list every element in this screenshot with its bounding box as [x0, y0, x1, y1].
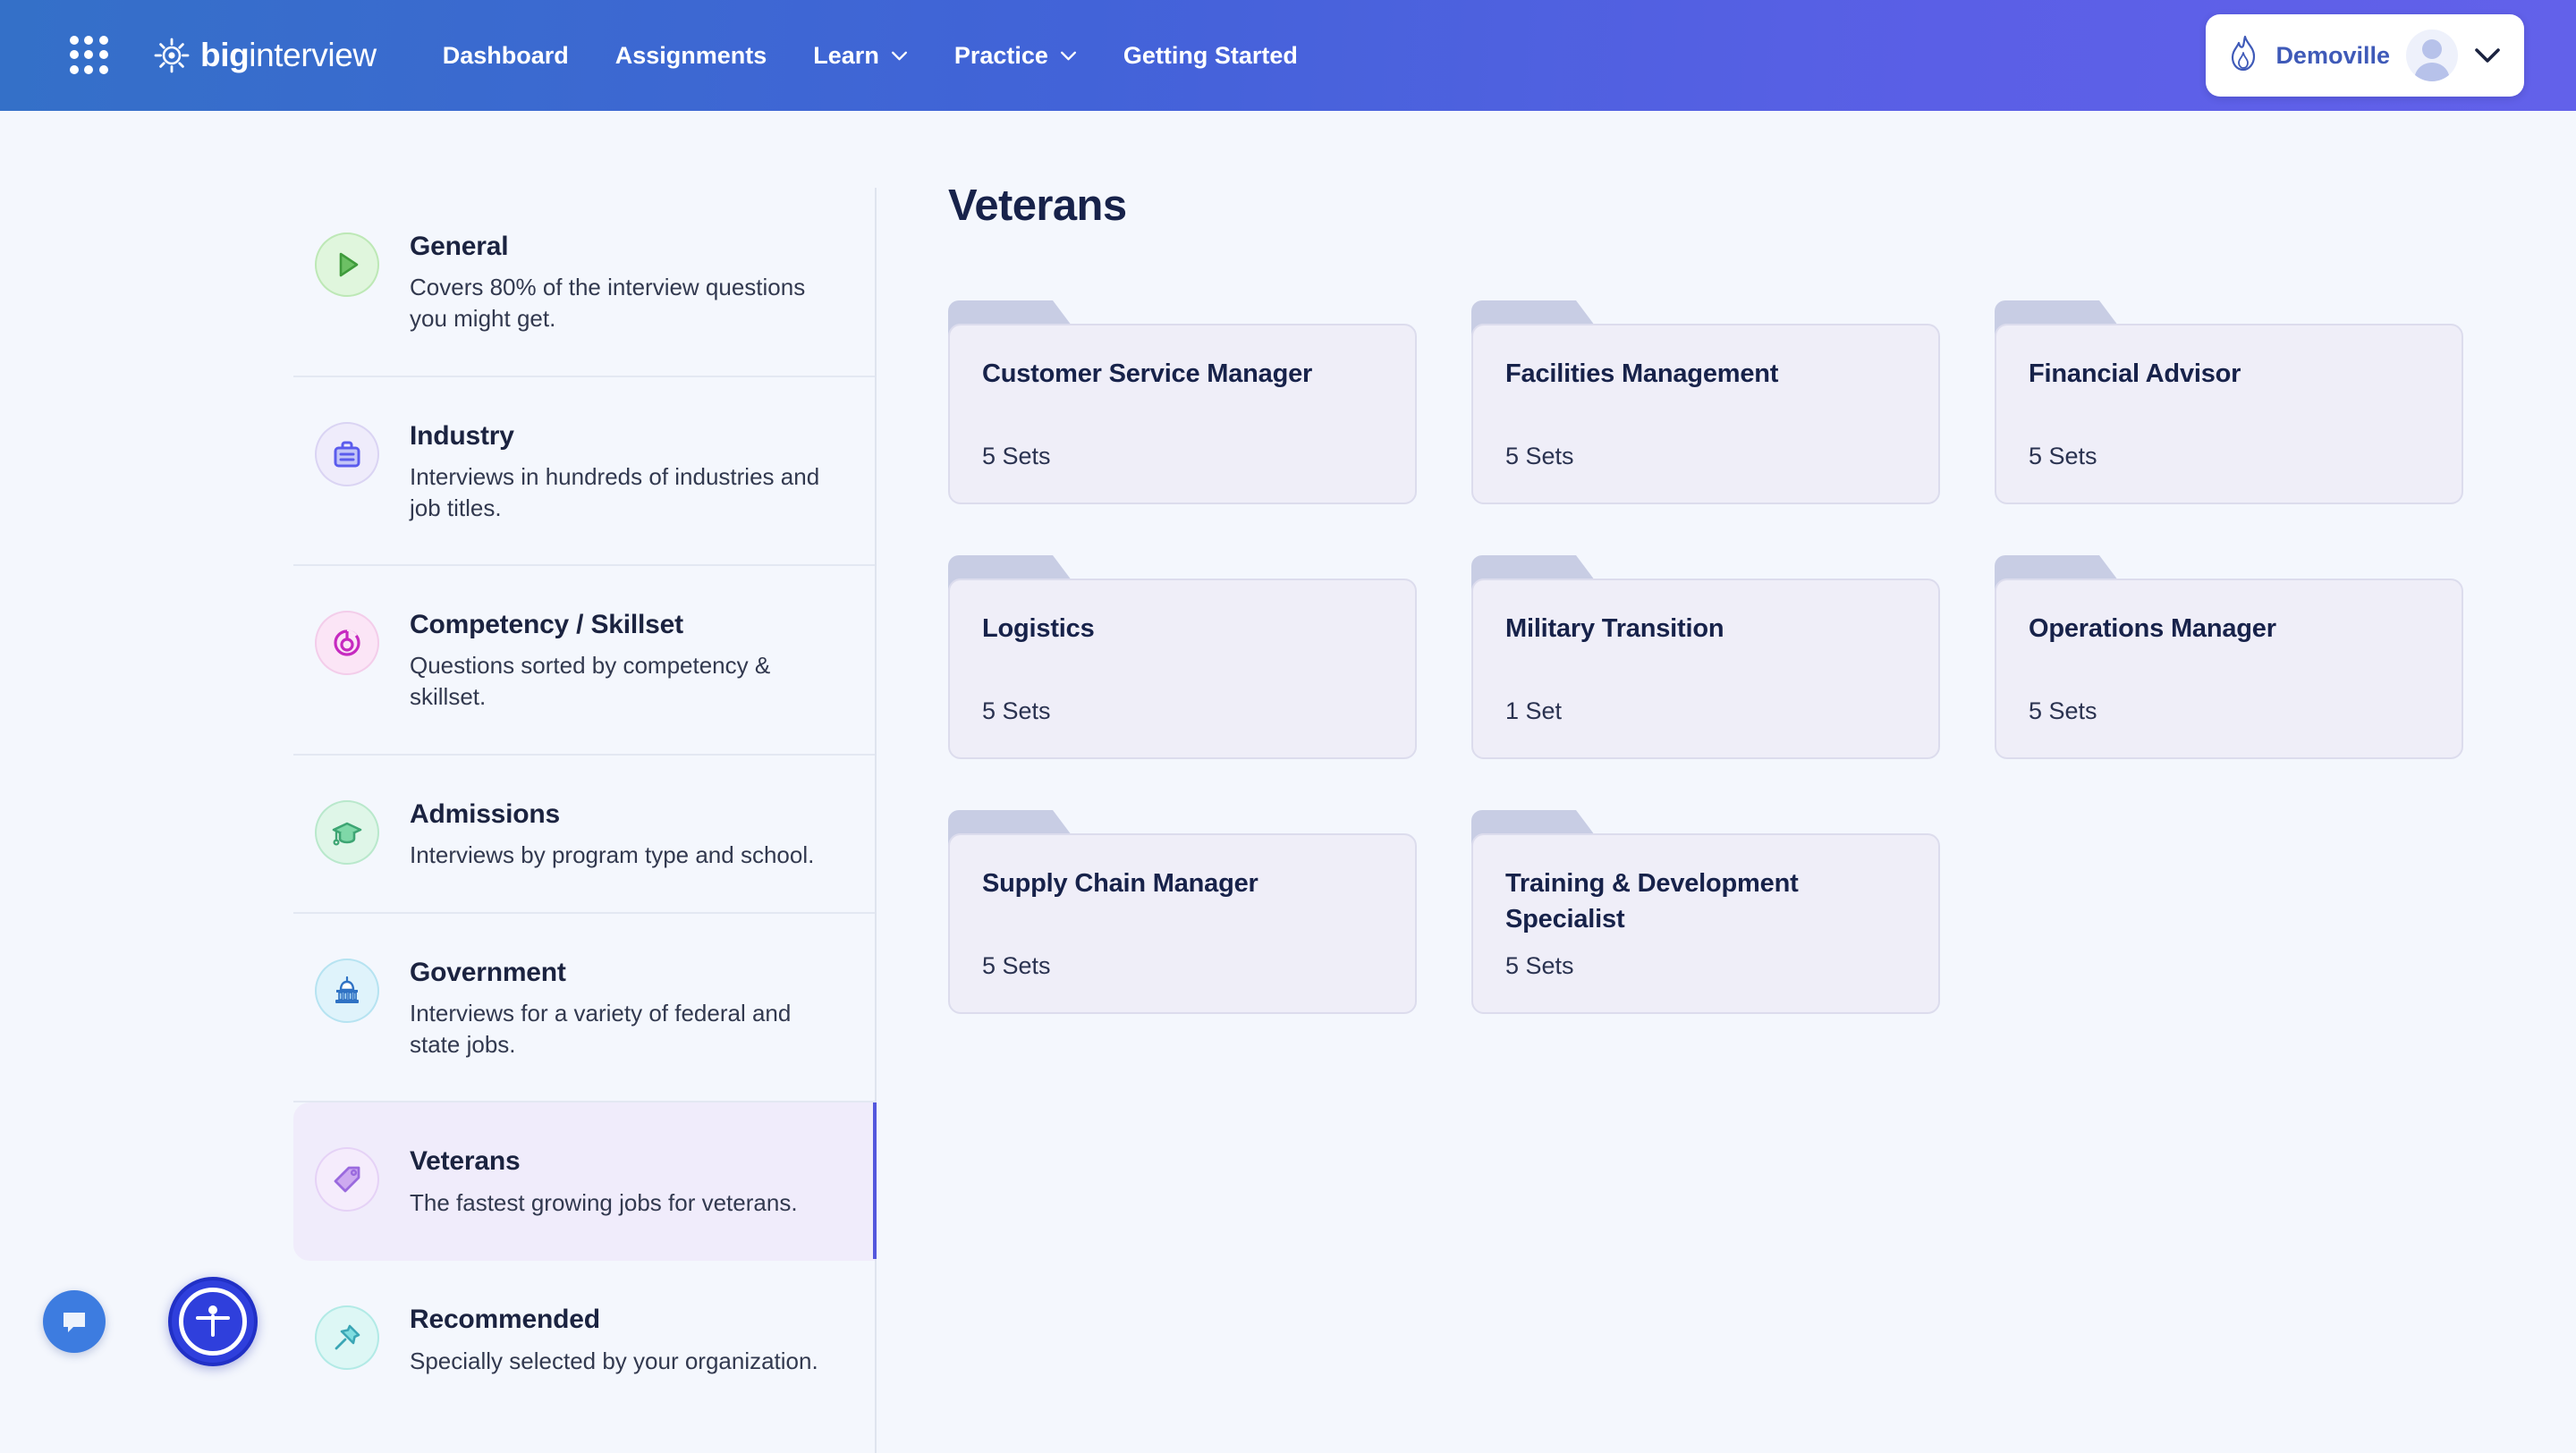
folder-body	[1995, 579, 2463, 759]
sidebar-item-admissions[interactable]: Admissions Interviews by program type an…	[293, 756, 875, 914]
folder-name: Operations Manager	[2029, 611, 2436, 646]
grid-apps-icon[interactable]	[70, 36, 109, 75]
folder-set-count: 5 Sets	[982, 697, 1051, 725]
nav-label: Practice	[954, 42, 1048, 70]
sun-icon	[152, 36, 191, 75]
folder-set-count: 5 Sets	[982, 443, 1051, 470]
sidebar-item-competency-skillset[interactable]: Competency / Skillset Questions sorted b…	[293, 566, 875, 756]
graduation-cap-icon	[315, 800, 379, 865]
sidebar-item-title: Competency / Skillset	[410, 609, 830, 640]
sidebar-item-government[interactable]: Government Interviews for a variety of f…	[293, 914, 875, 1103]
folder-body	[948, 833, 1417, 1014]
sidebar-item-desc: Covers 80% of the interview questions yo…	[410, 272, 830, 334]
sidebar-item-general[interactable]: General Covers 80% of the interview ques…	[293, 188, 875, 377]
folder-set-count: 5 Sets	[2029, 697, 2097, 725]
briefcase-icon	[315, 422, 379, 486]
chevron-down-icon	[1060, 51, 1077, 61]
sidebar-item-title: Veterans	[410, 1145, 798, 1177]
chevron-down-icon	[891, 51, 908, 61]
folder-set-count: 5 Sets	[1505, 443, 1574, 470]
sidebar-item-desc: Interviews by program type and school.	[410, 840, 814, 871]
folder-card[interactable]: Supply Chain Manager 5 Sets	[948, 810, 1417, 1014]
folder-name: Logistics	[982, 611, 1390, 646]
folder-set-count: 5 Sets	[982, 952, 1051, 980]
profile-name: Demoville	[2275, 42, 2390, 70]
nav-item-dashboard[interactable]: Dashboard	[419, 42, 592, 70]
pin-icon	[315, 1305, 379, 1370]
sidebar-item-title: Admissions	[410, 798, 814, 830]
folder-card[interactable]: Logistics 5 Sets	[948, 555, 1417, 759]
sidebar-item-desc: Interviews in hundreds of industries and…	[410, 461, 830, 523]
sidebar-item-desc: The fastest growing jobs for veterans.	[410, 1187, 798, 1219]
folder-name: Supply Chain Manager	[982, 866, 1390, 901]
folder-body	[1471, 579, 1940, 759]
sidebar-item-title: Recommended	[410, 1304, 818, 1335]
folder-body	[1995, 324, 2463, 504]
folder-body	[948, 324, 1417, 504]
top-navigation-bar: biginterview Dashboard Assignments Learn…	[0, 0, 2576, 111]
folder-name: Military Transition	[1505, 611, 1913, 646]
nav-item-getting-started[interactable]: Getting Started	[1100, 42, 1321, 70]
sidebar-item-industry[interactable]: Industry Interviews in hundreds of indus…	[293, 377, 875, 567]
sidebar-item-desc: Questions sorted by competency & skillse…	[410, 650, 830, 712]
accessibility-person-icon	[179, 1288, 247, 1356]
sidebar-item-recommended[interactable]: Recommended Specially selected by your o…	[293, 1261, 875, 1417]
play-icon	[315, 232, 379, 297]
page-body: General Covers 80% of the interview ques…	[0, 111, 2576, 1393]
folder-set-count: 1 Set	[1505, 697, 1562, 725]
sidebar-item-title: Industry	[410, 420, 830, 452]
folder-set-count: 5 Sets	[1505, 952, 1574, 980]
folder-card[interactable]: Customer Service Manager 5 Sets	[948, 300, 1417, 504]
profile-menu-button[interactable]: Demoville	[2206, 14, 2524, 97]
sidebar-item-desc: Specially selected by your organization.	[410, 1346, 818, 1377]
donut-chart-icon	[315, 611, 379, 675]
sidebar-item-title: Government	[410, 957, 830, 988]
chat-bubble-icon	[57, 1305, 91, 1339]
nav-item-assignments[interactable]: Assignments	[592, 42, 791, 70]
nav-item-practice[interactable]: Practice	[931, 42, 1100, 70]
flame-icon	[2229, 35, 2259, 77]
nav-label: Getting Started	[1123, 42, 1298, 70]
folder-grid: Customer Service Manager 5 Sets Faciliti…	[948, 300, 2522, 1014]
folder-set-count: 5 Sets	[2029, 443, 2097, 470]
nav-label: Learn	[813, 42, 879, 70]
folder-body	[1471, 324, 1940, 504]
main-content: Veterans Customer Service Manager 5 Sets…	[948, 111, 2522, 1014]
main-nav: Dashboard Assignments Learn Practice Get…	[419, 42, 1321, 70]
category-sidebar: General Covers 80% of the interview ques…	[293, 188, 877, 1453]
nav-label: Dashboard	[443, 42, 569, 70]
folder-name: Financial Advisor	[2029, 356, 2436, 392]
brand-name-light: interview	[249, 37, 376, 73]
page-title: Veterans	[948, 181, 2522, 231]
accessibility-widget-button[interactable]	[168, 1277, 258, 1366]
folder-card[interactable]: Financial Advisor 5 Sets	[1995, 300, 2463, 504]
folder-body	[948, 579, 1417, 759]
folder-name: Training & Development Specialist	[1505, 866, 1913, 937]
nav-item-learn[interactable]: Learn	[790, 42, 931, 70]
brand-name-bold: big	[200, 37, 249, 73]
sidebar-item-desc: Interviews for a variety of federal and …	[410, 998, 830, 1060]
nav-label: Assignments	[615, 42, 767, 70]
folder-card[interactable]: Facilities Management 5 Sets	[1471, 300, 1940, 504]
tag-icon	[315, 1147, 379, 1212]
folder-name: Customer Service Manager	[982, 356, 1390, 392]
folder-card[interactable]: Military Transition 1 Set	[1471, 555, 1940, 759]
folder-card[interactable]: Training & Development Specialist 5 Sets	[1471, 810, 1940, 1014]
sidebar-item-title: General	[410, 231, 830, 262]
sidebar-item-veterans[interactable]: Veterans The fastest growing jobs for ve…	[293, 1102, 875, 1261]
avatar	[2406, 30, 2458, 81]
chevron-down-icon[interactable]	[2474, 47, 2501, 63]
brand-logo[interactable]: biginterview	[152, 36, 377, 75]
capitol-icon	[315, 959, 379, 1023]
folder-name: Facilities Management	[1505, 356, 1913, 392]
chat-widget-button[interactable]	[43, 1290, 106, 1353]
folder-card[interactable]: Operations Manager 5 Sets	[1995, 555, 2463, 759]
